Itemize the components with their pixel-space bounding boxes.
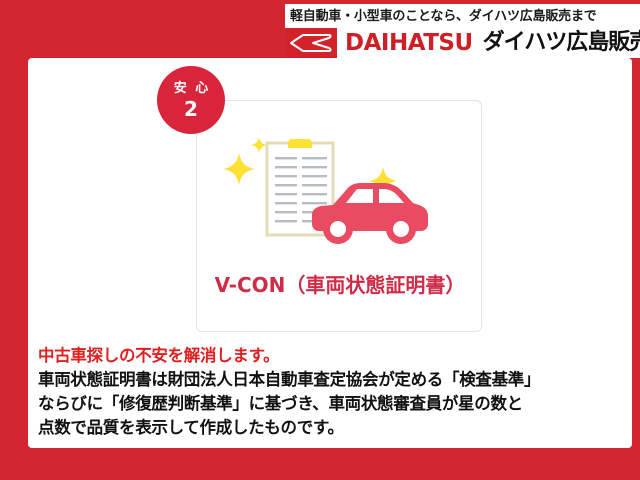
anshin-badge-label: 安 心	[172, 82, 211, 95]
anshin-badge-number: 2	[184, 99, 198, 119]
promo-headline: 中古車探しの不安を解消します。	[38, 344, 632, 368]
promo-line: ならびに「修復歴判断基準」に基づき、車両状態審査員が星の数と	[38, 392, 632, 416]
sparkle-icon	[251, 137, 267, 153]
promo-copy-block: 中古車探しの不安を解消します。 車両状態証明書は財団法人日本自動車査定協会が定め…	[28, 344, 632, 440]
promo-line: 点数で品質を表示して作成したものです。	[38, 416, 632, 440]
header-tagline-strip: 軽自動車・小型車のことなら、ダイハツ広島販売まで	[285, 4, 640, 28]
dealer-name: ダイハツ広島販売	[473, 32, 640, 54]
header-tagline: 軽自動車・小型車のことなら、ダイハツ広島販売まで	[285, 10, 597, 23]
promo-line: 車両状態証明書は財団法人日本自動車査定協会が定める「検査基準」	[38, 368, 632, 392]
brand-wordmark: DAIHATSU	[337, 32, 473, 55]
sparkle-icon	[223, 153, 255, 185]
daihatsu-d-mark-icon	[285, 28, 337, 58]
vcon-illustration	[197, 119, 483, 259]
anshin-badge: 安 心 2	[157, 66, 225, 134]
header-bar: 軽自動車・小型車のことなら、ダイハツ広島販売まで DAIHATSU ダイハツ広島…	[0, 0, 640, 58]
vcon-card: V-CON（車両状態証明書）	[196, 100, 482, 332]
brand-logo-row: DAIHATSU ダイハツ広島販売	[285, 28, 640, 58]
vcon-caption: V-CON（車両状態証明書）	[197, 273, 483, 297]
